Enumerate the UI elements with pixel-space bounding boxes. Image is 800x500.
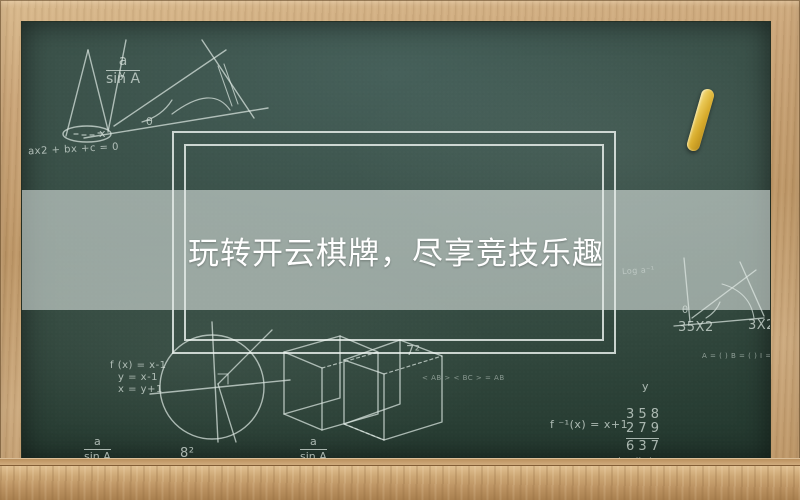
chalk-tray: [0, 465, 800, 500]
page-title: 玩转开云棋牌，尽享竞技乐趣: [22, 190, 770, 310]
chalkboard-banner: a sin A y x θ ax2 + bx +c = 0 f (x) = x-…: [0, 0, 800, 500]
chalkboard-surface: a sin A y x θ ax2 + bx +c = 0 f (x) = x-…: [22, 22, 770, 458]
